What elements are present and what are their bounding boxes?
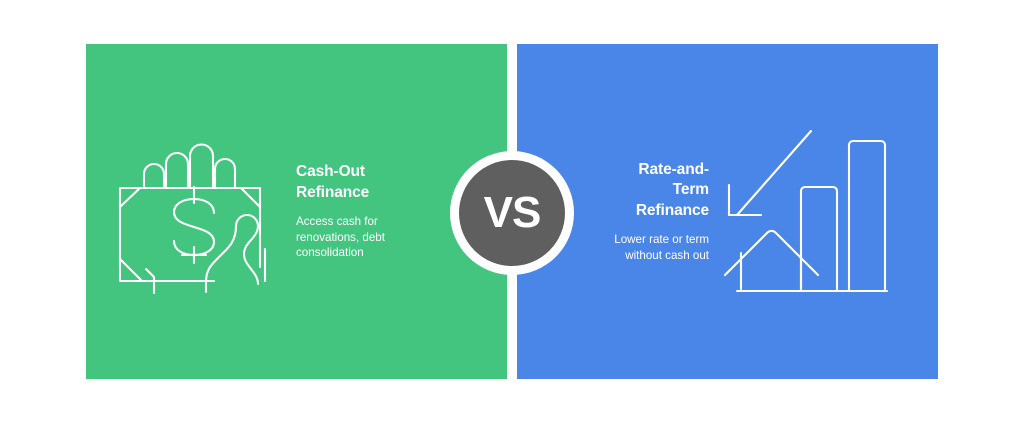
panel-rate-and-term-refinance: Rate-and-TermRefinance Lower rate or ter… bbox=[517, 44, 938, 379]
panel-right-content: Rate-and-TermRefinance Lower rate or ter… bbox=[517, 123, 938, 301]
right-title: Rate-and-TermRefinance bbox=[577, 160, 709, 221]
left-text-block: Cash-OutRefinance Access cash forrenovat… bbox=[296, 162, 424, 260]
left-subtitle-line-3: consolidation bbox=[296, 246, 364, 259]
comparison-graphic: Cash-OutRefinance Access cash forrenovat… bbox=[0, 0, 1024, 424]
right-text-block: Rate-and-TermRefinance Lower rate or ter… bbox=[577, 160, 709, 263]
vs-badge: VS bbox=[450, 151, 574, 275]
right-title-line-1: Rate-and- bbox=[638, 161, 709, 178]
left-title: Cash-OutRefinance bbox=[296, 162, 424, 203]
left-title-line-2: Refinance bbox=[296, 184, 369, 201]
panel-cash-out-refinance: Cash-OutRefinance Access cash forrenovat… bbox=[86, 44, 507, 379]
right-subtitle-line-2: without cash out bbox=[625, 249, 709, 262]
left-subtitle-line-2: renovations, debt bbox=[296, 231, 385, 244]
right-title-line-2: Term bbox=[673, 181, 709, 198]
vs-badge-circle: VS bbox=[459, 160, 565, 266]
panel-left-content: Cash-OutRefinance Access cash forrenovat… bbox=[86, 129, 507, 294]
left-title-line-1: Cash-Out bbox=[296, 163, 365, 180]
right-title-line-3: Refinance bbox=[636, 202, 709, 219]
hand-holding-cash-icon bbox=[110, 129, 282, 294]
vs-badge-label: VS bbox=[484, 191, 541, 235]
right-subtitle: Lower rate or termwithout cash out bbox=[577, 232, 709, 263]
house-bar-chart-down-arrow-icon bbox=[723, 123, 888, 301]
right-subtitle-line-1: Lower rate or term bbox=[614, 233, 709, 246]
left-subtitle: Access cash forrenovations, debtconsolid… bbox=[296, 214, 424, 260]
left-subtitle-line-1: Access cash for bbox=[296, 215, 378, 228]
